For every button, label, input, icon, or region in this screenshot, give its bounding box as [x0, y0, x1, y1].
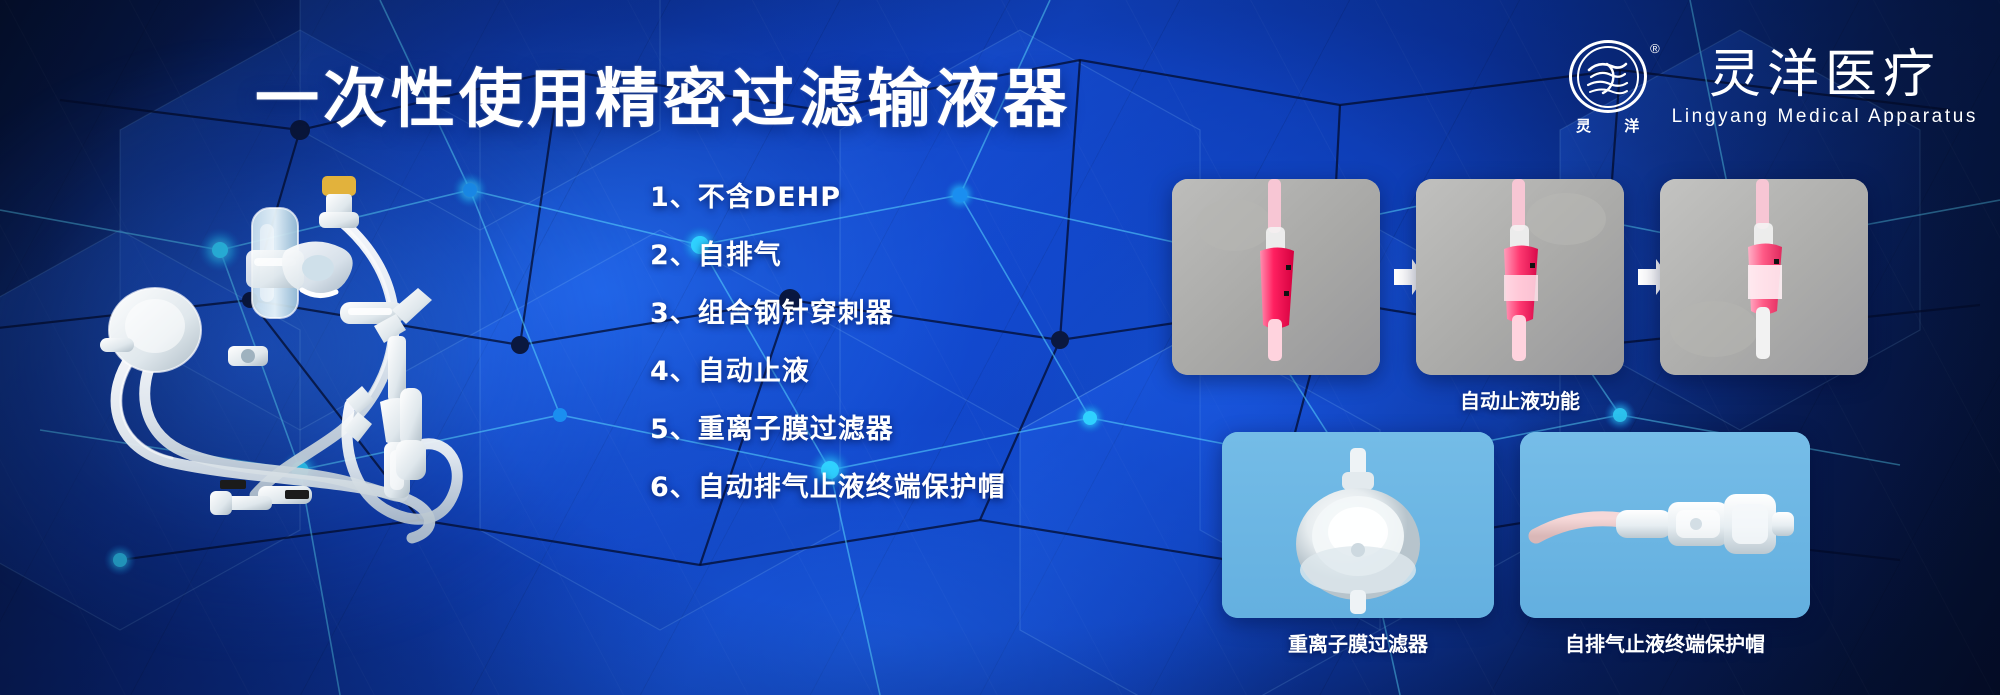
spike-connector [319, 176, 359, 228]
brand-lockup: ® 灵 洋 灵洋医疗 Lingyang Medical Apparatus [1562, 40, 1978, 136]
auto-stop-photo-1 [1172, 179, 1380, 375]
logo-mark: ® 灵 洋 [1562, 40, 1654, 136]
showcase-photo-auto-stop-3 [1660, 179, 1868, 375]
showcase-caption-auto-stop: 自动止液功能 [1172, 385, 1868, 414]
feature-label: 重离子膜过滤器 [698, 414, 894, 445]
brand-name-block: 灵洋医疗 Lingyang Medical Apparatus [1672, 48, 1978, 129]
lingyang-wave-logo-icon [1569, 40, 1647, 113]
feature-item: 1、不含DEHP [650, 175, 1006, 214]
showcase-photo-filter [1222, 432, 1494, 618]
auto-stop-photo-3 [1660, 179, 1868, 375]
showcase-photo-auto-stop-1 [1172, 179, 1380, 375]
heavy-ion-filter-photo [1222, 432, 1494, 618]
feature-item: 5、重离子膜过滤器 [650, 407, 1006, 446]
terminal-cap [396, 388, 426, 480]
black-label-2 [285, 490, 309, 499]
feature-item: 3、组合钢针穿刺器 [650, 291, 1006, 330]
brand-name-en: Lingyang Medical Apparatus [1672, 106, 1978, 128]
feature-item: 2、自排气 [650, 233, 1006, 272]
feature-label: 自排气 [698, 240, 782, 271]
registered-trademark-icon: ® [1650, 42, 1660, 55]
infusion-set-illustration [40, 150, 660, 550]
page-title: 一次性使用精密过滤输液器 [255, 48, 1071, 140]
feature-label: 不含DEHP [698, 182, 841, 213]
feature-item: 4、自动止液 [650, 349, 1006, 388]
feature-label: 自动止液 [698, 356, 810, 387]
black-label-1 [220, 480, 246, 489]
feature-label: 自动排气止液终端保护帽 [698, 472, 1006, 503]
feature-index: 6、 [650, 472, 698, 503]
showcase-photo-cap [1520, 432, 1810, 618]
feature-list: 1、不含DEHP 2、自排气 3、组合钢针穿刺器 4、自动止液 5、重离子膜过滤… [650, 175, 1006, 504]
feature-index: 1、 [650, 182, 698, 213]
feature-index: 2、 [650, 240, 698, 271]
auto-stop-photo-2 [1416, 179, 1624, 375]
showcase-caption-cap: 自排气止液终端保护帽 [1500, 628, 1830, 657]
product-photo [40, 150, 660, 550]
feature-index: 5、 [650, 414, 698, 445]
logo-sub-text: 灵 洋 [1562, 115, 1653, 136]
showcase-caption-filter: 重离子膜过滤器 [1222, 628, 1494, 657]
wave-glyph [1577, 46, 1639, 108]
feature-index: 4、 [650, 356, 698, 387]
feature-label: 组合钢针穿刺器 [698, 298, 894, 329]
feature-item: 6、自动排气止液终端保护帽 [650, 465, 1006, 504]
brand-name-cn: 灵洋医疗 [1709, 48, 1941, 103]
showcase-photo-auto-stop-2 [1416, 179, 1624, 375]
roller-clamp [228, 346, 268, 366]
membrane-filter [100, 288, 201, 372]
product-banner: 一次性使用精密过滤输液器 ® 灵 洋 灵洋医疗 Lingyang Medical… [0, 0, 2000, 695]
protective-cap-photo [1520, 432, 1810, 618]
feature-index: 3、 [650, 298, 698, 329]
